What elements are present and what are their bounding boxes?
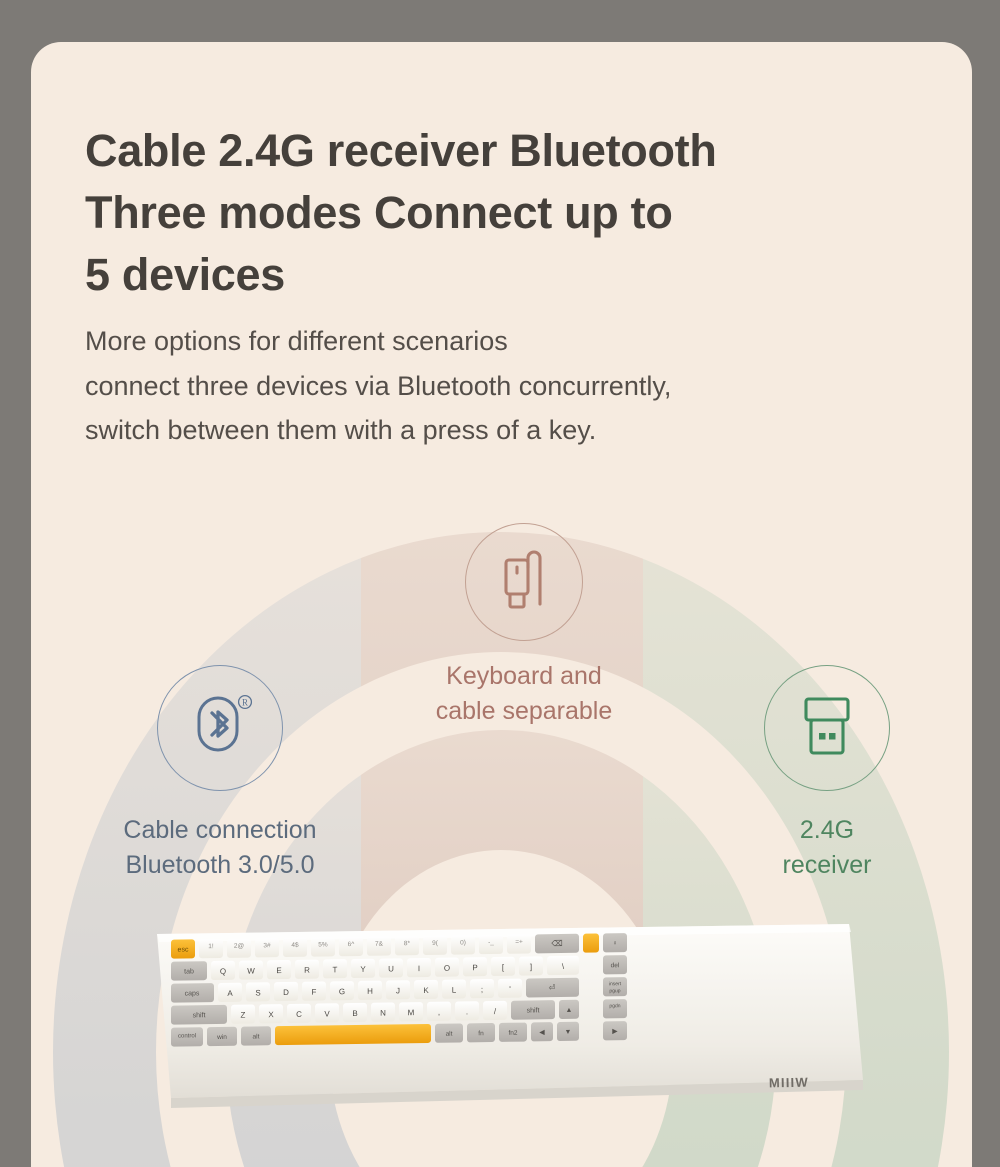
feature-cable-separable: Keyboard and cable separable — [409, 523, 639, 728]
svg-text:fn: fn — [478, 1030, 484, 1037]
usb-dongle-icon — [796, 691, 858, 766]
receiver-label-line-1: 2.4G — [697, 813, 957, 848]
svg-text:◀: ◀ — [539, 1029, 545, 1036]
svg-text:esc: esc — [178, 946, 189, 953]
svg-text:8*: 8* — [404, 940, 411, 947]
svg-text:N: N — [380, 1009, 386, 1018]
receiver-label-line-2: receiver — [697, 848, 957, 883]
svg-text:3#: 3# — [263, 942, 271, 949]
svg-text:X: X — [268, 1010, 274, 1019]
svg-text:Q: Q — [220, 967, 226, 976]
svg-text:H: H — [367, 987, 373, 996]
receiver-label: 2.4G receiver — [697, 813, 957, 882]
cable-label: Keyboard and cable separable — [409, 659, 639, 728]
svg-text:1!: 1! — [208, 943, 214, 950]
svg-text:fn2: fn2 — [508, 1030, 517, 1037]
svg-text:pgup: pgup — [609, 988, 620, 994]
page-frame: Cable 2.4G receiver Bluetooth Three mode… — [0, 0, 1000, 1167]
bluetooth-icon-circle: R — [157, 665, 283, 791]
cable-icon-circle — [465, 523, 583, 641]
svg-text:R: R — [304, 966, 310, 975]
svg-text:6^: 6^ — [348, 941, 356, 948]
page-title: Cable 2.4G receiver Bluetooth Three mode… — [85, 120, 945, 306]
svg-text:shift: shift — [527, 1007, 540, 1014]
product-feature-card: Cable 2.4G receiver Bluetooth Three mode… — [31, 42, 972, 1167]
page-subtitle: More options for different scenarios con… — [85, 319, 915, 453]
svg-text:D: D — [283, 988, 289, 997]
svg-text:V: V — [324, 1009, 330, 1018]
headline-line-2: Three modes Connect up to — [85, 182, 945, 244]
svg-text:caps: caps — [185, 990, 200, 997]
bluetooth-trademark-symbol: R — [242, 697, 248, 707]
svg-text:S: S — [255, 988, 260, 997]
subtitle-line-2: connect three devices via Bluetooth conc… — [85, 364, 915, 409]
subtitle-line-1: More options for different scenarios — [85, 319, 915, 364]
headline-line-3: 5 devices — [85, 244, 945, 306]
svg-text:del: del — [611, 962, 620, 969]
feature-bluetooth: R Cable connection Bluetooth 3.0/5.0 — [70, 665, 370, 882]
svg-text:I: I — [418, 964, 420, 973]
svg-text:-_: -_ — [488, 939, 494, 946]
svg-text:,: , — [438, 1008, 440, 1017]
svg-text:O: O — [444, 964, 450, 973]
svg-text:control: control — [178, 1033, 196, 1039]
svg-text:L: L — [452, 986, 457, 995]
svg-text:7&: 7& — [375, 941, 384, 948]
headline-line-1: Cable 2.4G receiver Bluetooth — [85, 120, 945, 182]
svg-text:5%: 5% — [318, 941, 328, 948]
keyboard-product-image: esc 1! 2@ 3# 4$ 5% 6^ 7& 8* 9( 0) — [149, 912, 869, 1122]
bluetooth-icon: R — [183, 689, 257, 768]
svg-text:Z: Z — [241, 1011, 246, 1020]
svg-text:tab: tab — [184, 968, 194, 975]
receiver-icon-circle — [764, 665, 890, 791]
svg-text:⏎: ⏎ — [549, 983, 556, 992]
svg-text:▶: ▶ — [612, 1028, 618, 1035]
svg-text:G: G — [339, 987, 345, 996]
svg-text:;: ; — [481, 985, 483, 994]
svg-text:J: J — [396, 986, 400, 995]
svg-text:alt: alt — [253, 1033, 260, 1040]
svg-text:E: E — [276, 966, 281, 975]
usb-cable-icon — [496, 546, 552, 619]
svg-text:]: ] — [530, 962, 532, 971]
svg-text:♀: ♀ — [612, 940, 617, 947]
svg-text:⌫: ⌫ — [551, 939, 562, 948]
svg-text:M: M — [408, 1008, 415, 1017]
svg-text:P: P — [472, 963, 477, 972]
cable-label-line-2: cable separable — [409, 694, 639, 729]
svg-text:U: U — [388, 964, 394, 973]
subtitle-line-3: switch between them with a press of a ke… — [85, 408, 915, 453]
svg-text:shift: shift — [193, 1012, 206, 1019]
svg-text:win: win — [216, 1034, 227, 1041]
svg-text:pgdn: pgdn — [609, 1003, 620, 1009]
svg-text:W: W — [247, 966, 255, 975]
bluetooth-label: Cable connection Bluetooth 3.0/5.0 — [70, 813, 370, 882]
svg-text:Y: Y — [360, 965, 366, 974]
svg-text:T: T — [333, 965, 338, 974]
svg-text:.: . — [466, 1007, 468, 1016]
svg-text:F: F — [312, 988, 317, 997]
bluetooth-label-line-2: Bluetooth 3.0/5.0 — [70, 848, 370, 883]
feature-24g-receiver: 2.4G receiver — [697, 665, 957, 882]
svg-text:▲: ▲ — [566, 1007, 573, 1014]
svg-text:=+: =+ — [515, 939, 523, 946]
svg-text:2@: 2@ — [234, 943, 245, 950]
keyboard-brand-logo: MIIIW — [769, 1075, 809, 1091]
svg-text:4$: 4$ — [291, 942, 299, 949]
svg-text:A: A — [227, 989, 233, 998]
svg-text:0): 0) — [460, 939, 466, 946]
svg-text:B: B — [352, 1009, 357, 1018]
svg-text:alt: alt — [446, 1031, 453, 1038]
svg-text:9(: 9( — [432, 940, 439, 947]
svg-text:K: K — [423, 986, 429, 995]
svg-text:insert: insert — [609, 981, 622, 987]
cable-label-line-1: Keyboard and — [409, 659, 639, 694]
svg-text:C: C — [296, 1010, 302, 1019]
svg-text:▼: ▼ — [565, 1029, 572, 1036]
bluetooth-label-line-1: Cable connection — [70, 813, 370, 848]
